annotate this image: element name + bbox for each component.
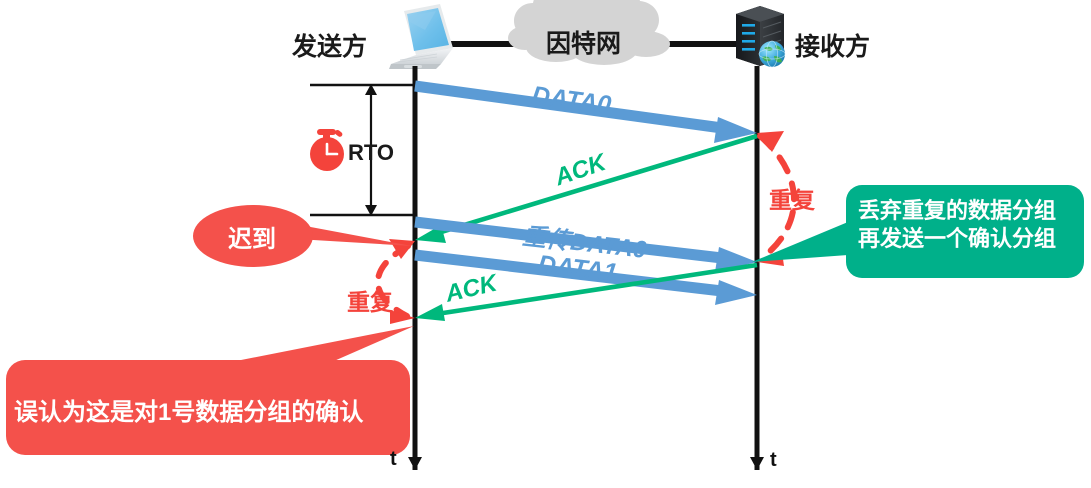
sender-label: 发送方 xyxy=(292,27,367,63)
network-label: 因特网 xyxy=(546,24,621,60)
receiver-label: 接收方 xyxy=(795,27,870,63)
stopwatch-icon xyxy=(310,129,344,171)
rto-label: RTO xyxy=(348,140,394,166)
duplicate-label-receiver: 重复 xyxy=(769,181,815,215)
server-icon xyxy=(736,6,785,67)
time-axis-label-sender: t xyxy=(390,448,397,471)
callout-sender-misinterpret-text: 误认为这是对1号数据分组的确认 xyxy=(14,392,363,427)
laptop-icon xyxy=(389,4,453,69)
callout-receiver-action-text: 丢弃重复的数据分组 再发送一个确认分组 xyxy=(858,197,1056,253)
diagram-canvas: 发送方 接收方 因特网 DATA0 ACK 重传DATA0 DATA1 ACK … xyxy=(0,0,1091,488)
duplicate-label-sender: 重复 xyxy=(347,283,393,317)
callout-late-ack-text: 迟到 xyxy=(228,219,276,254)
time-axis-label-receiver: t xyxy=(770,449,777,472)
callout-sender-misinterpret[interactable] xyxy=(6,326,414,455)
